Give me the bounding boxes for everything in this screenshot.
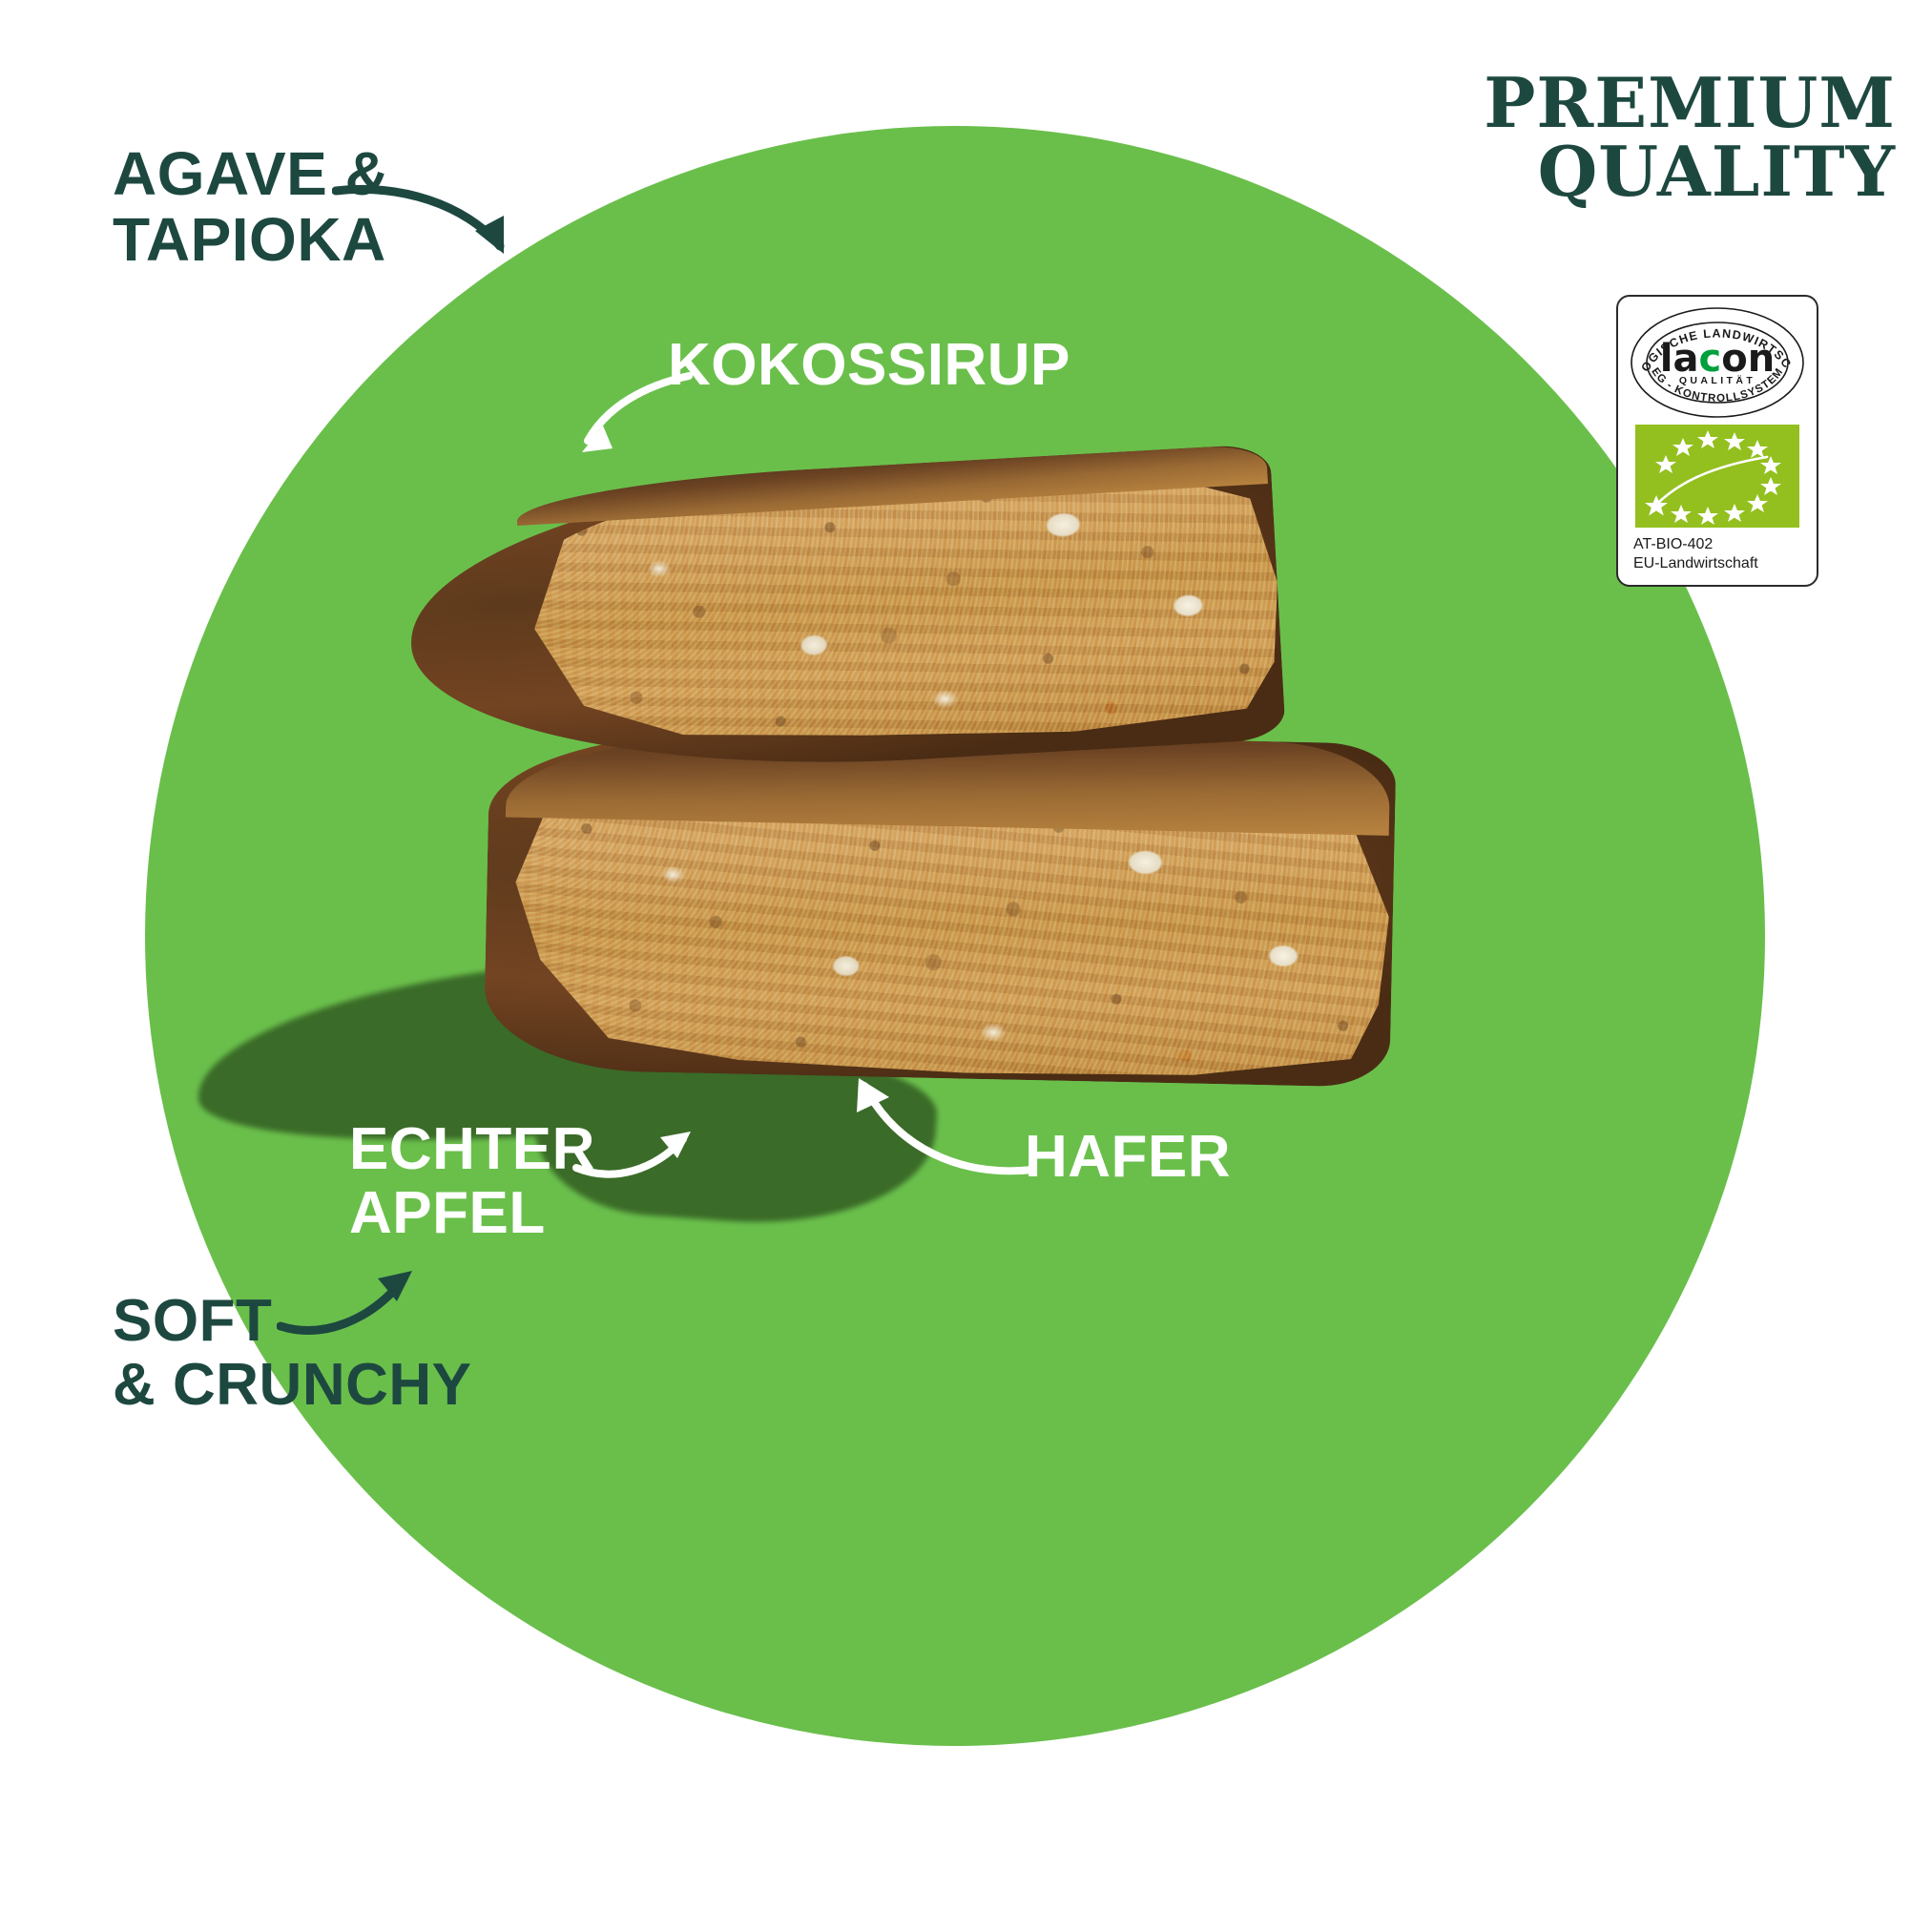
curved-arrow-down-right-icon — [332, 158, 532, 263]
lacon-quality-seal-icon: BIOLOGISCHE LANDWIRTSCHAFT EG - KONTROLL… — [1627, 304, 1808, 421]
lacon-subtitle: QUALITÄT — [1679, 374, 1755, 386]
curved-arrow-up-right-icon — [572, 1124, 696, 1191]
bar-piece-bottom — [483, 725, 1396, 1088]
premium-quality-headline: Premium Quality — [1400, 69, 1896, 206]
eu-organic-leaf-icon — [1635, 425, 1799, 528]
curved-arrow-up-left-icon — [847, 1070, 1038, 1185]
certification-code-text: AT-BIO-402 EU-Landwirtschaft — [1628, 535, 1758, 573]
callout-label-hafer: Hafer — [1025, 1126, 1231, 1190]
product-photo — [172, 448, 1298, 1221]
callout-label-kokossirup: Kokossirup — [668, 334, 1070, 398]
callout-label-echter-apfel: Echter Apfel — [349, 1118, 595, 1246]
certification-badge: BIOLOGISCHE LANDWIRTSCHAFT EG - KONTROLL… — [1616, 295, 1818, 587]
curved-arrow-up-right-icon — [277, 1263, 420, 1349]
bar-piece-top — [403, 444, 1286, 787]
curved-arrow-down-left-icon — [565, 370, 698, 456]
